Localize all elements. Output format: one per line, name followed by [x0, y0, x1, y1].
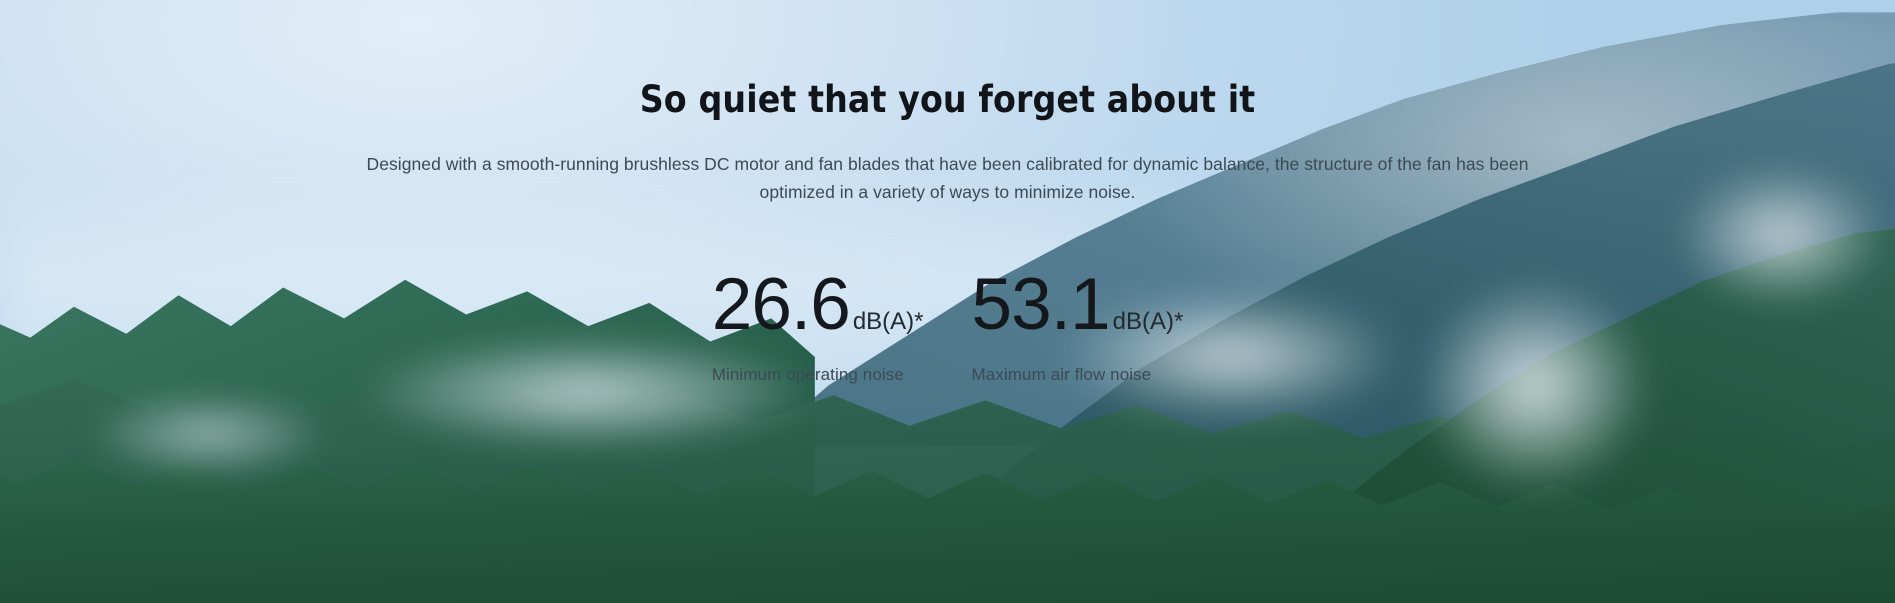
stat-number: 26.6	[712, 268, 850, 341]
stat-value-row: 26.6 dB(A)*	[712, 268, 924, 341]
stat-unit: dB(A)*	[1113, 308, 1184, 336]
hero-description: Designed with a smooth-running brushless…	[348, 150, 1548, 207]
stat-number: 53.1	[972, 268, 1110, 341]
stat-minimum-operating-noise: 26.6 dB(A)* Minimum operating noise	[712, 268, 924, 385]
quiet-operation-hero-banner: So quiet that you forget about it Design…	[0, 0, 1895, 603]
noise-stats-group: 26.6 dB(A)* Minimum operating noise 53.1…	[0, 268, 1895, 385]
hero-headline: So quiet that you forget about it	[0, 78, 1895, 122]
stat-caption: Maximum air flow noise	[972, 365, 1152, 385]
stat-maximum-air-flow-noise: 53.1 dB(A)* Maximum air flow noise	[972, 268, 1184, 385]
stat-value-row: 53.1 dB(A)*	[972, 268, 1184, 341]
stat-unit: dB(A)*	[853, 308, 924, 336]
hero-content: So quiet that you forget about it Design…	[0, 0, 1895, 603]
stat-caption: Minimum operating noise	[712, 365, 904, 385]
